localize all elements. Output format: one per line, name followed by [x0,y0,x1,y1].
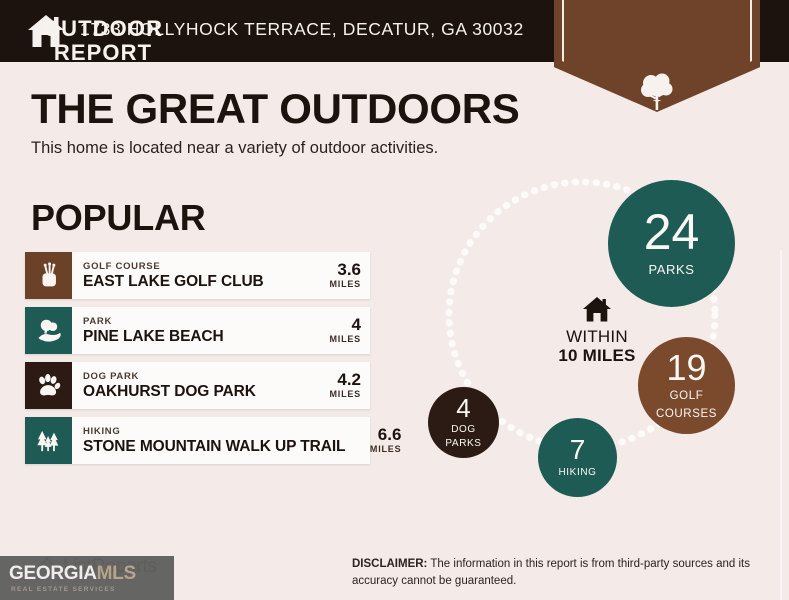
golf-bag-icon [25,252,72,299]
distance-unit: MILES [329,279,361,291]
list-item-distance: 3.6 MILES [305,252,370,299]
bubble-golf-value: 19 [666,351,706,385]
list-item-category: DOG PARK [83,371,305,383]
list-item[interactable]: HIKING STONE MOUNTAIN WALK UP TRAIL 6.6 … [25,417,370,464]
disclaimer: DISCLAIMER: The information in this repo… [352,556,762,589]
bubble-hiking-value: 7 [570,437,586,464]
paw-print-icon [25,362,72,409]
badge-line-2: REPORT [0,42,206,64]
bubble-dog-label-line2: PARKS [445,438,481,449]
list-item-category: HIKING [83,426,345,438]
divider [780,250,782,600]
bubble-parks-value: 24 [644,209,700,257]
bubble-parks-label: PARKS [648,263,694,278]
badge-line-1: OUTDOOR [0,18,206,40]
bubble-hiking-label: HIKING [558,467,596,478]
distance-unit: MILES [370,444,402,456]
popular-list: GOLF COURSE EAST LAKE GOLF CLUB 3.6 MILE… [25,252,370,472]
watermark-accent: MLS [97,563,136,584]
georgiamls-watermark: GEORGIAMLS REAL ESTATE SERVICES [0,556,174,600]
list-item[interactable]: GOLF COURSE EAST LAKE GOLF CLUB 3.6 MILE… [25,252,370,299]
list-item-distance: 4 MILES [305,307,370,354]
list-item-text: PARK PINE LAKE BEACH [72,307,305,354]
page-title: THE GREAT OUTDOORS [31,88,520,130]
disclaimer-label: DISCLAIMER: [352,558,427,570]
park-tree-icon [25,307,72,354]
pine-trees-icon [25,417,72,464]
page-subtitle: This home is located near a variety of o… [31,139,438,158]
list-item-category: PARK [83,316,305,328]
list-item-name: OAKHURST DOG PARK [83,383,305,401]
within-10-miles-bubble-chart: 24 PARKS 19 GOLF COURSES 4 DOG PARKS 7 H… [410,165,789,520]
popular-heading: POPULAR [31,200,206,236]
home-icon [582,296,612,323]
bubble-parks[interactable]: 24 PARKS [608,180,735,307]
distance-value: 3.6 [337,261,361,279]
list-item-text: DOG PARK OAKHURST DOG PARK [72,362,305,409]
bubble-golf-label-line1: GOLF [670,390,704,403]
list-item-category: GOLF COURSE [83,261,305,273]
distance-value: 4.2 [337,371,361,389]
distance-unit: MILES [329,334,361,346]
list-item-distance: 6.6 MILES [345,417,410,464]
list-item-distance: 4.2 MILES [305,362,370,409]
distance-value: 4 [352,316,361,334]
center-label-line2: 10 MILES [522,346,672,365]
bubble-hiking[interactable]: 7 HIKING [538,418,617,497]
tree-icon [640,72,674,110]
bubble-dog-label-line1: DOG [451,424,476,435]
chart-center-label: WITHIN 10 MILES [522,296,672,365]
watermark-main: GEORGIA [9,563,97,584]
list-item-name: PINE LAKE BEACH [83,328,305,346]
bubble-golf-label-line2: COURSES [656,408,717,421]
distance-unit: MILES [329,389,361,401]
list-item[interactable]: DOG PARK OAKHURST DOG PARK 4.2 MILES [25,362,370,409]
list-item-name: STONE MOUNTAIN WALK UP TRAIL [83,438,345,456]
list-item-name: EAST LAKE GOLF CLUB [83,273,305,291]
bubble-dog-parks[interactable]: 4 DOG PARKS [428,387,499,458]
center-label-line1: WITHIN [522,327,672,346]
distance-value: 6.6 [378,426,402,444]
list-item-text: GOLF COURSE EAST LAKE GOLF CLUB [72,252,305,299]
bubble-dog-value: 4 [456,396,470,421]
list-item[interactable]: PARK PINE LAKE BEACH 4 MILES [25,307,370,354]
watermark-sub: REAL ESTATE SERVICES [11,586,116,593]
outdoor-report-page: 1733 HOLLYHOCK TERRACE, DECATUR, GA 3003… [0,0,789,600]
list-item-text: HIKING STONE MOUNTAIN WALK UP TRAIL [72,417,345,464]
